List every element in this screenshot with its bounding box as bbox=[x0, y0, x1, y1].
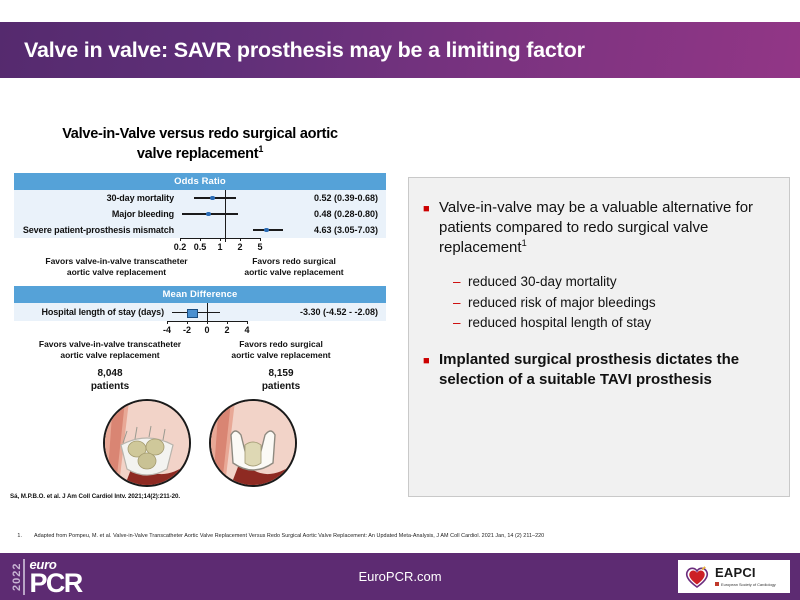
valve-in-valve-illustration-icon bbox=[103, 399, 191, 487]
favors-right: Favors redo surgical aortic valve replac… bbox=[206, 339, 356, 360]
forest-row-plot bbox=[170, 303, 266, 321]
sub-bullet-text: reduced hospital length of stay bbox=[468, 313, 651, 334]
forest-row-label: 30-day mortality bbox=[14, 193, 180, 203]
mean-difference-favors: Favors valve-in-valve transcatheter aort… bbox=[14, 339, 386, 360]
axis-tick-label: 2 bbox=[224, 325, 229, 335]
page-title: Valve in valve: SAVR prosthesis may be a… bbox=[0, 38, 585, 63]
eapci-subtitle-row: European Society of Cardiology bbox=[715, 582, 776, 587]
favors-left-line2: aortic valve replacement bbox=[60, 350, 159, 360]
key-messages-panel: ■ Valve-in-valve may be a valuable alter… bbox=[408, 177, 790, 497]
dash-bullet-icon: – bbox=[453, 313, 468, 334]
confidence-interval-line bbox=[194, 197, 236, 198]
figure-title-superscript: 1 bbox=[258, 144, 263, 154]
odds-ratio-null-line bbox=[225, 190, 226, 242]
forest-row: 30-day mortality 0.52 (0.39-0.68) bbox=[14, 190, 386, 206]
forest-row-value: 4.63 (3.05-7.03) bbox=[284, 225, 386, 235]
point-estimate-marker bbox=[264, 228, 269, 233]
mean-difference-null-line bbox=[207, 303, 208, 321]
odds-ratio-body: 30-day mortality 0.52 (0.39-0.68) Major … bbox=[14, 190, 386, 238]
mean-difference-header: Mean Difference bbox=[14, 286, 386, 303]
axis-tick bbox=[260, 238, 261, 241]
bullet-text: Implanted surgical prosthesis dictates t… bbox=[439, 350, 773, 390]
figure-column: Valve-in-Valve versus redo surgical aort… bbox=[0, 125, 400, 500]
axis-tick-label: 1 bbox=[217, 242, 222, 252]
esc-square-icon bbox=[715, 582, 719, 586]
eapci-name: EAPCI bbox=[715, 566, 776, 579]
sub-bullet-item: – reduced 30-day mortality bbox=[453, 272, 773, 293]
odds-ratio-panel: Odds Ratio 30-day mortality 0.52 (0.39-0… bbox=[14, 173, 386, 277]
eapci-logo: EAPCI European Society of Cardiology bbox=[678, 560, 790, 593]
axis-tick-label: 5 bbox=[257, 242, 262, 252]
forest-row-label: Severe patient-prosthesis mismatch bbox=[14, 225, 180, 235]
point-estimate-marker bbox=[206, 212, 211, 217]
forest-row-plot bbox=[180, 190, 284, 206]
mean-difference-axis: -4 -2 0 2 4 bbox=[14, 321, 386, 338]
mean-difference-panel: Mean Difference Hospital length of stay … bbox=[14, 286, 386, 393]
axis-tick bbox=[180, 238, 181, 241]
redo-surgical-valve-illustration-icon bbox=[209, 399, 297, 487]
odds-ratio-axis: 0.2 0.5 1 2 5 bbox=[14, 238, 386, 255]
patient-count-left-label: patients bbox=[91, 381, 129, 392]
favors-left: Favors valve-in-valve transcatheter aort… bbox=[14, 256, 219, 277]
valve-illustrations bbox=[0, 399, 400, 487]
sub-bullet-item: – reduced hospital length of stay bbox=[453, 313, 773, 334]
favors-right-line2: aortic valve replacement bbox=[244, 267, 343, 277]
axis-tick-label: -2 bbox=[183, 325, 191, 335]
favors-right: Favors redo surgical aortic valve replac… bbox=[219, 256, 369, 277]
forest-row-label: Major bleeding bbox=[14, 209, 180, 219]
axis-tick bbox=[200, 238, 201, 241]
patient-count-right: 8,159 patients bbox=[206, 368, 356, 392]
odds-ratio-header: Odds Ratio bbox=[14, 173, 386, 190]
bullet-item: ■ Valve-in-valve may be a valuable alter… bbox=[423, 198, 773, 258]
footnote-number: 1. bbox=[0, 533, 34, 539]
figure-source-note: Sá, M.P.B.O. et al. J Am Coll Cardiol In… bbox=[10, 493, 400, 500]
favors-left-line2: aortic valve replacement bbox=[67, 267, 166, 277]
sub-bullet-text: reduced 30-day mortality bbox=[468, 272, 617, 293]
slide-footer: EuroPCR.com 2022 euro PCR EAPCI European… bbox=[0, 553, 800, 600]
favors-left-line1: Favors valve-in-valve transcatheter bbox=[45, 256, 187, 266]
axis-tick-label: 2 bbox=[237, 242, 242, 252]
axis-tick-label: 0 bbox=[204, 325, 209, 335]
square-bullet-icon: ■ bbox=[423, 198, 439, 258]
bullet-superscript: 1 bbox=[522, 238, 527, 249]
axis-tick bbox=[167, 321, 168, 324]
slide-title-bar: Valve in valve: SAVR prosthesis may be a… bbox=[0, 22, 800, 78]
axis-tick-label: 0.2 bbox=[174, 242, 187, 252]
figure-title-line1: Valve-in-Valve versus redo surgical aort… bbox=[62, 126, 338, 142]
dash-bullet-icon: – bbox=[453, 272, 468, 293]
patient-count-left: 8,048 patients bbox=[14, 368, 206, 392]
mean-difference-body: Hospital length of stay (days) -3.30 (-4… bbox=[14, 303, 386, 321]
square-bullet-icon: ■ bbox=[423, 350, 439, 390]
forest-row-label: Hospital length of stay (days) bbox=[14, 307, 170, 317]
forest-row-value: -3.30 (-4.52 - -2.08) bbox=[266, 307, 386, 317]
eapci-heart-icon bbox=[684, 565, 710, 589]
figure-title-line2: valve replacement bbox=[137, 145, 259, 161]
favors-left: Favors valve-in-valve transcatheter aort… bbox=[14, 339, 206, 360]
logo-year: 2022 bbox=[9, 557, 23, 597]
axis-tick bbox=[227, 321, 228, 324]
axis-tick-label: -4 bbox=[163, 325, 171, 335]
axis-tick bbox=[187, 321, 188, 324]
forest-row: Severe patient-prosthesis mismatch 4.63 … bbox=[14, 222, 386, 238]
eapci-subtitle: European Society of Cardiology bbox=[721, 582, 776, 587]
axis-tick bbox=[207, 321, 208, 324]
sub-bullet-text: reduced risk of major bleedings bbox=[468, 293, 656, 314]
patient-count-right-label: patients bbox=[262, 381, 300, 392]
eapci-text-block: EAPCI European Society of Cardiology bbox=[715, 566, 776, 587]
sub-bullet-item: – reduced risk of major bleedings bbox=[453, 293, 773, 314]
patient-count-left-number: 8,048 bbox=[97, 368, 122, 379]
favors-right-line1: Favors redo surgical bbox=[252, 256, 336, 266]
axis-tick-label: 0.5 bbox=[194, 242, 207, 252]
forest-row: Major bleeding 0.48 (0.28-0.80) bbox=[14, 206, 386, 222]
figure-title: Valve-in-Valve versus redo surgical aort… bbox=[0, 125, 400, 163]
axis-tick-label: 4 bbox=[244, 325, 249, 335]
patient-counts: 8,048 patients 8,159 patients bbox=[14, 368, 386, 392]
footnote-text: Adapted from Pompeu, M. et al. Valve-in-… bbox=[34, 533, 544, 539]
dash-bullet-icon: – bbox=[453, 293, 468, 314]
favors-right-line2: aortic valve replacement bbox=[231, 350, 330, 360]
sub-bullet-list: – reduced 30-day mortality – reduced ris… bbox=[453, 272, 773, 334]
favors-left-line1: Favors valve-in-valve transcatheter bbox=[39, 339, 181, 349]
axis-tick bbox=[220, 238, 221, 241]
odds-ratio-favors: Favors valve-in-valve transcatheter aort… bbox=[14, 256, 386, 277]
forest-row-plot bbox=[180, 206, 284, 222]
axis-tick bbox=[247, 321, 248, 324]
forest-row-value: 0.52 (0.39-0.68) bbox=[284, 193, 386, 203]
forest-row: Hospital length of stay (days) -3.30 (-4… bbox=[14, 303, 386, 321]
forest-row-plot bbox=[180, 222, 284, 238]
bullet-text: Valve-in-valve may be a valuable alterna… bbox=[439, 198, 773, 258]
patient-count-right-number: 8,159 bbox=[268, 368, 293, 379]
forest-row-value: 0.48 (0.28-0.80) bbox=[284, 209, 386, 219]
bullet-item: ■ Implanted surgical prosthesis dictates… bbox=[423, 350, 773, 390]
axis-tick bbox=[240, 238, 241, 241]
point-estimate-marker bbox=[210, 196, 215, 201]
point-estimate-marker bbox=[187, 309, 198, 318]
favors-right-line1: Favors redo surgical bbox=[239, 339, 323, 349]
footnote: 1. Adapted from Pompeu, M. et al. Valve-… bbox=[0, 533, 800, 539]
